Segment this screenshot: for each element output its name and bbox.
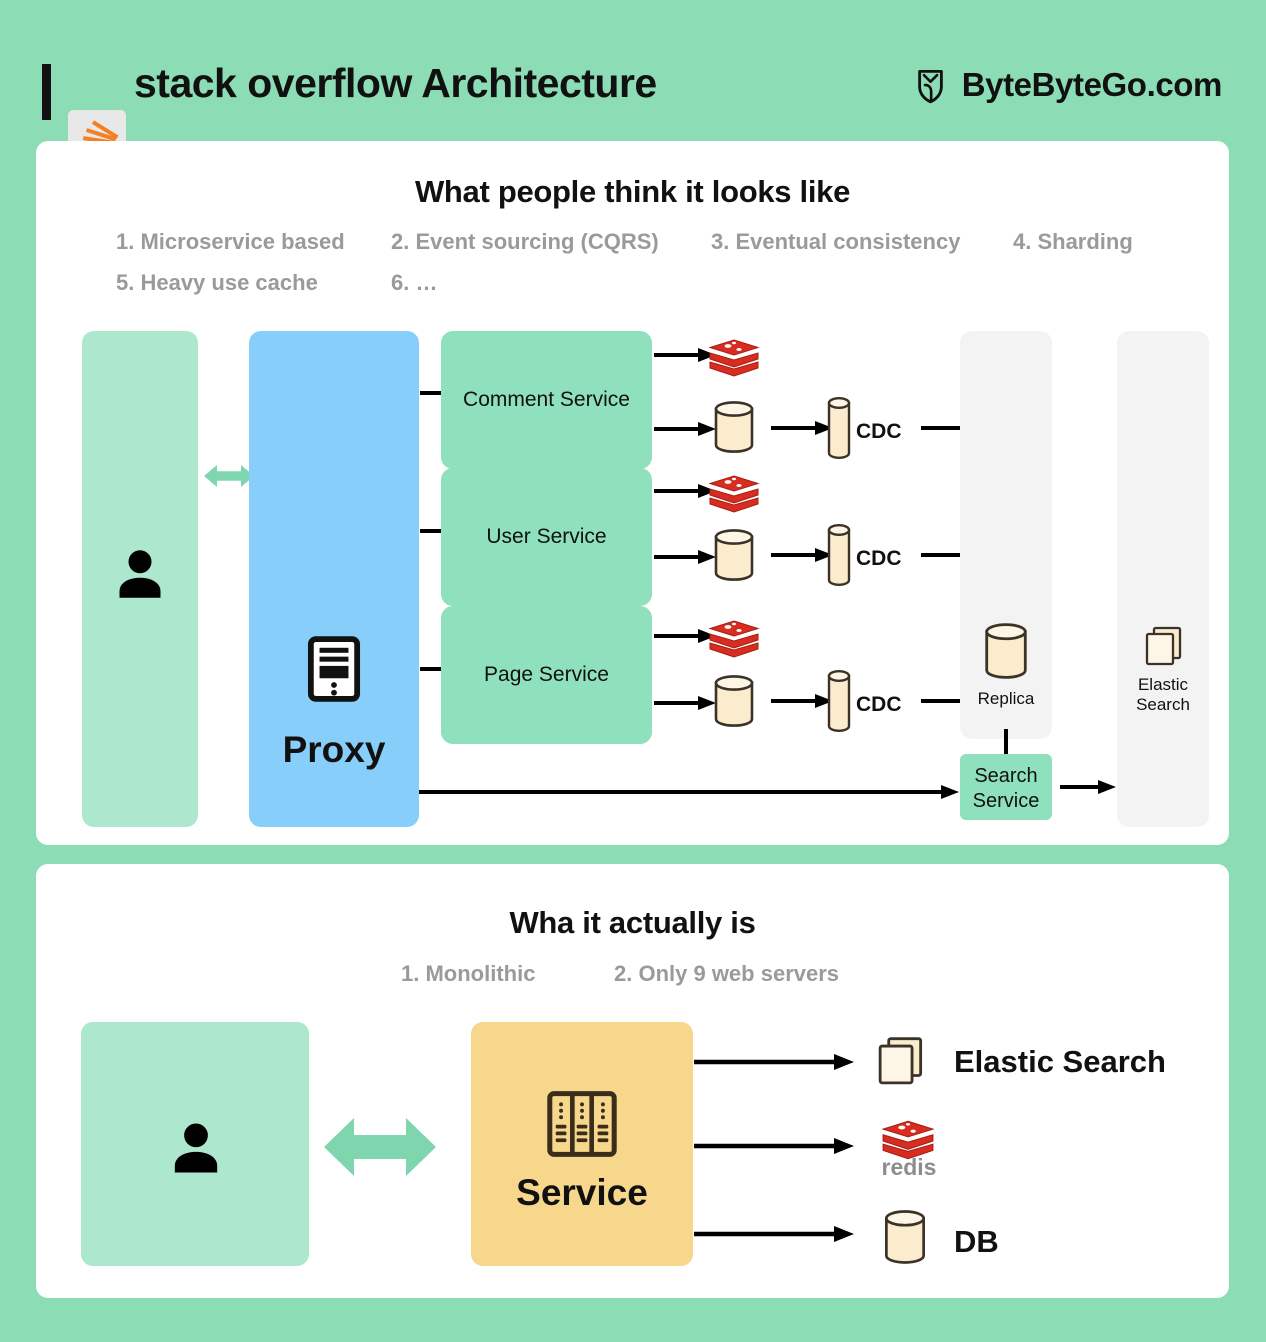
user-service-box[interactable]: User Service [441, 468, 652, 606]
redis-icon [708, 616, 760, 662]
user-service-label: User Service [441, 525, 652, 549]
brand-name: ByteByteGo.com [962, 66, 1222, 104]
monolith-service-box[interactable]: Service [471, 1022, 693, 1266]
bottom-bullet-2: 2. Only 9 web servers [614, 961, 839, 987]
target-label-elastic-search: Elastic Search [954, 1044, 1166, 1080]
database-icon [712, 527, 756, 583]
documents-icon [876, 1035, 926, 1089]
monolith-service-label: Service [471, 1172, 693, 1214]
top-section-title: What people think it looks like [36, 174, 1229, 210]
server-tower-icon [307, 636, 361, 702]
database-icon [880, 1208, 930, 1266]
cdc-cylinder-icon [826, 522, 852, 588]
elastic-label-line2: Search [1117, 695, 1209, 715]
replica-column[interactable]: Replica [960, 331, 1052, 739]
cdc-label-3: CDC [856, 693, 902, 717]
user-proxy-bidirectional-arrow [204, 357, 254, 587]
title-accent-bar [42, 64, 51, 120]
proxy-label: Proxy [249, 729, 419, 771]
arrow-service-to-elastic-search [694, 1054, 854, 1070]
cdc-cylinder-icon [826, 395, 852, 461]
brand-logo: ByteByteGo.com [912, 66, 1222, 104]
bullet-3: 3. Eventual consistency [711, 229, 960, 255]
user-icon [165, 1114, 227, 1182]
arrow-comment-service-to-redis [654, 347, 716, 363]
redis-icon [708, 335, 760, 381]
arrow-page-service-to-db [654, 695, 716, 711]
user-service-bidirectional-arrow [324, 1116, 436, 1178]
bottom-bullet-1: 1. Monolithic [401, 961, 535, 987]
bullet-4: 4. Sharding [1013, 229, 1133, 255]
top-user-panel[interactable] [82, 331, 198, 827]
bullet-6: 6. … [391, 270, 437, 296]
database-icon [982, 621, 1030, 681]
search-service-line2: Service [960, 789, 1052, 814]
target-label-redis: redis [874, 1154, 944, 1181]
page-service-box[interactable]: Page Service [441, 606, 652, 744]
server-rack-icon [546, 1090, 618, 1158]
target-label-db: DB [954, 1224, 999, 1260]
documents-icon [1144, 625, 1184, 669]
top-card: What people think it looks like 1. Micro… [36, 141, 1229, 845]
page-header: stack overflow Architecture ByteByteGo.c… [0, 50, 1266, 140]
cdc-label-1: CDC [856, 420, 902, 444]
comment-service-label: Comment Service [441, 388, 652, 412]
arrow-page-service-to-redis [654, 628, 716, 644]
arrow-proxy-to-search-service [419, 784, 959, 800]
elastic-label-line1: Elastic [1117, 675, 1209, 695]
elastic-search-column[interactable]: Elastic Search [1117, 331, 1209, 827]
bullet-2: 2. Event sourcing (CQRS) [391, 229, 659, 255]
search-service-line1: Search [960, 764, 1052, 789]
arrow-comment-service-to-db [654, 421, 716, 437]
arrow-user-service-to-db [654, 549, 716, 565]
bullet-1: 1. Microservice based [116, 229, 345, 255]
arrow-db-to-cdc-3 [771, 693, 833, 709]
arrow-service-to-redis [694, 1138, 854, 1154]
page-title: stack overflow Architecture [134, 60, 657, 107]
bottom-card: Wha it actually is 1. Monolithic 2. Only… [36, 864, 1229, 1298]
bottom-section-title: Wha it actually is [36, 905, 1229, 941]
database-icon [712, 673, 756, 729]
bullet-5: 5. Heavy use cache [116, 270, 318, 296]
page-service-label: Page Service [441, 663, 652, 687]
user-icon [110, 541, 170, 607]
search-service-box[interactable]: Search Service [960, 754, 1052, 820]
bottom-user-panel-box[interactable] [81, 1022, 309, 1266]
arrow-user-service-to-redis [654, 483, 716, 499]
cdc-label-2: CDC [856, 547, 902, 571]
database-icon [712, 399, 756, 455]
arrow-db-to-cdc-2 [771, 547, 833, 563]
redis-icon [708, 471, 760, 517]
bytebytego-mark-icon [912, 67, 949, 104]
arrow-service-to-db [694, 1226, 854, 1242]
replica-label: Replica [960, 689, 1052, 709]
proxy-panel[interactable]: Proxy [249, 331, 419, 827]
cdc-cylinder-icon [826, 668, 852, 734]
comment-service-box[interactable]: Comment Service [441, 331, 652, 469]
arrow-search-service-to-elastic [1060, 779, 1116, 795]
arrow-db-to-cdc-1 [771, 420, 833, 436]
poster-root: stack overflow Architecture ByteByteGo.c… [0, 0, 1266, 1342]
